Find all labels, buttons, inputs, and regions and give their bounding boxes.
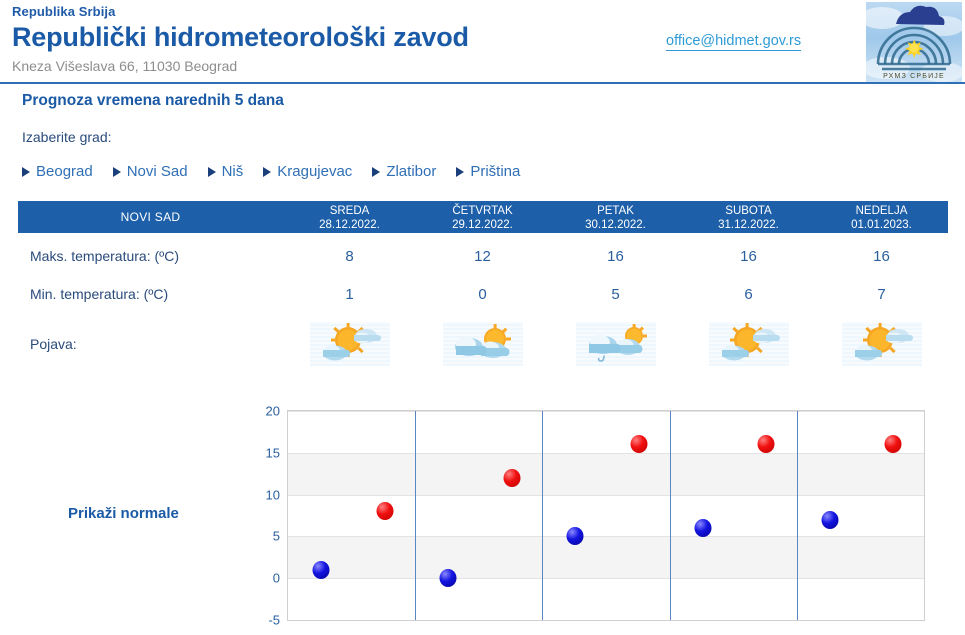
sun-with-cloud-icon [310,322,390,366]
max-temperature-row: Maks. temperatura: (ºC) 8 12 16 16 16 [18,237,948,275]
phenomena-cell-4 [815,322,948,366]
day-date: 29.12.2022. [416,218,549,232]
city-label: Beograd [36,163,93,180]
header-divider [0,82,965,84]
day-name: ČETVRTAK [416,204,549,218]
chart-gridline [288,453,924,454]
max-temp-value-3: 16 [682,248,815,265]
day-date: 01.01.2023. [815,218,948,232]
day-date: 28.12.2022. [283,218,416,232]
min-temp-value-0: 1 [283,286,416,303]
day-header-0: SREDA 28.12.2022. [283,203,416,232]
site-header: Republika Srbija Republički hidrometeoro… [0,0,965,84]
city-label: Kragujevac [277,163,352,180]
brand-block: Republika Srbija Republički hidrometeoro… [12,4,469,75]
chart-y-tick-label: 15 [240,445,280,460]
forecast-page: Republika Srbija Republički hidrometeoro… [0,0,965,635]
email-link[interactable]: office@hidmet.gov.rs [666,33,801,51]
min-temp-value-3: 6 [682,286,815,303]
day-name: PETAK [549,204,682,218]
day-header-2: PETAK 30.12.2022. [549,203,682,232]
city-nav: Beograd Novi Sad Niš Kragujevac Zlatibor… [22,163,540,180]
choose-city-label: Izaberite grad: [22,129,112,145]
day-date: 31.12.2022. [682,218,815,232]
arrow-right-icon [263,167,271,177]
chart-day-separator [415,411,416,620]
day-name: SREDA [283,204,416,218]
min-temperature-row: Min. temperatura: (ºC) 1 0 5 6 7 [18,275,948,313]
chart-plot-area [287,410,925,621]
sun-with-cloud-icon [842,322,922,366]
chart-y-tick-label: 0 [240,571,280,586]
phenomena-cell-1 [416,322,549,366]
phenomena-row: Pojava: [18,313,948,375]
phenomena-cell-3 [682,322,815,366]
min-temp-value-4: 7 [815,286,948,303]
show-normals-link[interactable]: Prikaži normale [68,505,179,522]
day-header-4: NEDELJA 01.01.2023. [815,203,948,232]
org-country: Republika Srbija [12,4,469,20]
sun-with-cloud-icon [709,322,789,366]
org-address: Kneza Višeslava 66, 11030 Beograd [12,57,469,75]
arrow-right-icon [113,167,121,177]
city-link-beograd[interactable]: Beograd [22,163,93,180]
day-name: SUBOTA [682,204,815,218]
city-link-nis[interactable]: Niš [208,163,244,180]
city-label: Novi Sad [127,163,188,180]
chart-grid-band [288,453,924,495]
city-label: Priština [470,163,520,180]
chart-gridline [288,495,924,496]
page-title: Prognoza vremena narednih 5 dana [22,92,284,110]
phenomena-cell-0 [283,322,416,366]
phenomena-cell-2 [549,322,682,366]
rhmz-logo: РХМЗ СРБИЈЕ [866,2,962,82]
chart-y-tick-label: 10 [240,487,280,502]
min-temp-marker [567,527,584,545]
max-temp-marker [885,435,902,453]
max-temp-value-1: 12 [416,248,549,265]
max-temp-marker [631,435,648,453]
max-temp-value-4: 16 [815,248,948,265]
logo-caption: РХМЗ СРБИЈЕ [883,73,945,80]
cloudy-with-sun-icon [443,322,523,366]
org-name: Republički hidrometeorološki zavod [12,21,469,54]
min-temp-value-2: 5 [549,286,682,303]
day-header-3: SUBOTA 31.12.2022. [682,203,815,232]
phenomena-label: Pojava: [18,336,283,352]
city-link-zlatibor[interactable]: Zlatibor [372,163,436,180]
max-temp-marker [758,435,775,453]
min-temp-marker [821,511,838,529]
chart-y-tick-label: 5 [240,529,280,544]
city-link-kragujevac[interactable]: Kragujevac [263,163,352,180]
max-temp-value-0: 8 [283,248,416,265]
city-link-pristina[interactable]: Priština [456,163,520,180]
max-temp-marker [503,469,520,487]
chart-gridline [288,620,924,621]
arrow-right-icon [372,167,380,177]
temperature-chart: Prikaži normale 20151050-5 [0,400,965,635]
day-header-1: ČETVRTAK 29.12.2022. [416,203,549,232]
arrow-right-icon [22,167,30,177]
min-temp-marker [694,519,711,537]
city-header-cell: NOVI SAD [18,210,283,224]
min-temperature-label: Min. temperatura: (ºC) [18,286,283,302]
forecast-table-header: NOVI SAD SREDA 28.12.2022. ČETVRTAK 29.1… [18,201,948,233]
chart-gridline [288,536,924,537]
chart-day-separator [797,411,798,620]
min-temp-marker [440,569,457,587]
min-temp-value-1: 0 [416,286,549,303]
day-date: 30.12.2022. [549,218,682,232]
chart-day-separator [542,411,543,620]
max-temp-marker [376,502,393,520]
chart-grid-band [288,536,924,578]
city-link-novi-sad[interactable]: Novi Sad [113,163,188,180]
min-temp-marker [313,561,330,579]
chart-y-tick-label: -5 [240,613,280,628]
cloudy-light-rain-icon [576,322,656,366]
city-label: Zlatibor [386,163,436,180]
chart-gridline [288,578,924,579]
max-temperature-label: Maks. temperatura: (ºC) [18,248,283,264]
chart-y-tick-label: 20 [240,404,280,419]
max-temp-value-2: 16 [549,248,682,265]
city-label: Niš [222,163,244,180]
chart-gridline [288,411,924,412]
chart-day-separator [670,411,671,620]
arrow-right-icon [208,167,216,177]
day-name: NEDELJA [815,204,948,218]
forecast-table: NOVI SAD SREDA 28.12.2022. ČETVRTAK 29.1… [18,201,948,375]
arrow-right-icon [456,167,464,177]
